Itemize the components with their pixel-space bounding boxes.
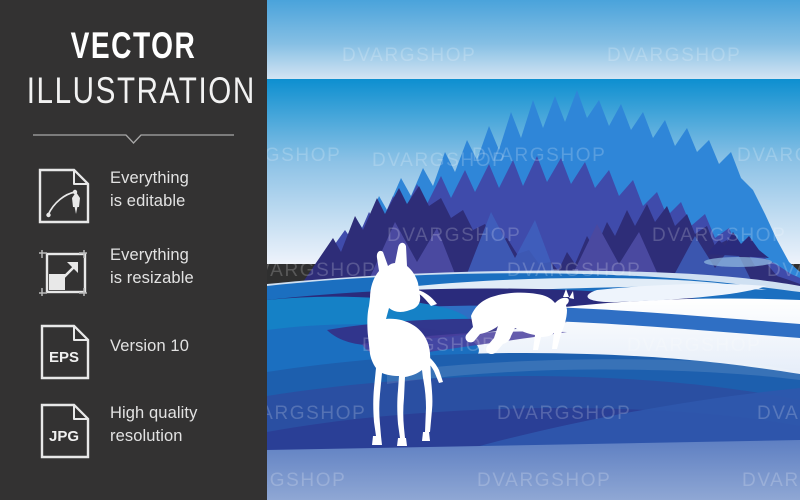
jpg-file-icon: JPG xyxy=(38,403,92,459)
chevron-divider-icon xyxy=(33,131,234,147)
feature-label-line2: is resizable xyxy=(110,267,260,290)
landscape-scene xyxy=(267,0,800,500)
poster-canvas: VECTOR ILLUSTRATION Everything is editab… xyxy=(0,0,800,500)
foreground-band-bottom xyxy=(267,440,800,500)
page-title-line1: VECTOR xyxy=(32,24,235,68)
feature-item-jpg-quality: JPG High quality resolution xyxy=(0,403,267,465)
feature-label: Everything is editable xyxy=(110,167,260,213)
feature-item-eps-version: EPS Version 10 xyxy=(0,324,267,386)
info-panel: VECTOR ILLUSTRATION Everything is editab… xyxy=(0,0,267,500)
eps-file-icon-text: EPS xyxy=(49,349,79,366)
feature-label-line1: Version 10 xyxy=(110,335,260,358)
feature-label: Everything is resizable xyxy=(110,244,260,290)
document-pen-tool-icon xyxy=(38,168,92,224)
page-title-line2: ILLUSTRATION xyxy=(27,68,241,114)
feature-label-line1: Everything xyxy=(110,167,260,190)
resize-arrow-icon xyxy=(38,245,92,301)
feature-item-resizable: Everything is resizable xyxy=(0,245,267,307)
feature-label-line1: Everything xyxy=(110,244,260,267)
feature-label-line2: is editable xyxy=(110,190,260,213)
feature-label: High quality resolution xyxy=(110,402,260,448)
jpg-file-icon-text: JPG xyxy=(49,428,79,445)
feature-label-line1: High quality xyxy=(110,402,260,425)
island-reflection xyxy=(704,257,772,267)
eps-file-icon: EPS xyxy=(38,324,92,380)
title-block: VECTOR ILLUSTRATION xyxy=(0,24,267,114)
illustration-artwork: DVARGSHOP DVARGSHOP DVARGSHOP DVARGSHOP … xyxy=(267,0,800,500)
feature-label: Version 10 xyxy=(110,335,260,358)
feature-item-editable: Everything is editable xyxy=(0,168,267,230)
feature-label-line2: resolution xyxy=(110,425,260,448)
sky-band-upper xyxy=(267,0,800,79)
